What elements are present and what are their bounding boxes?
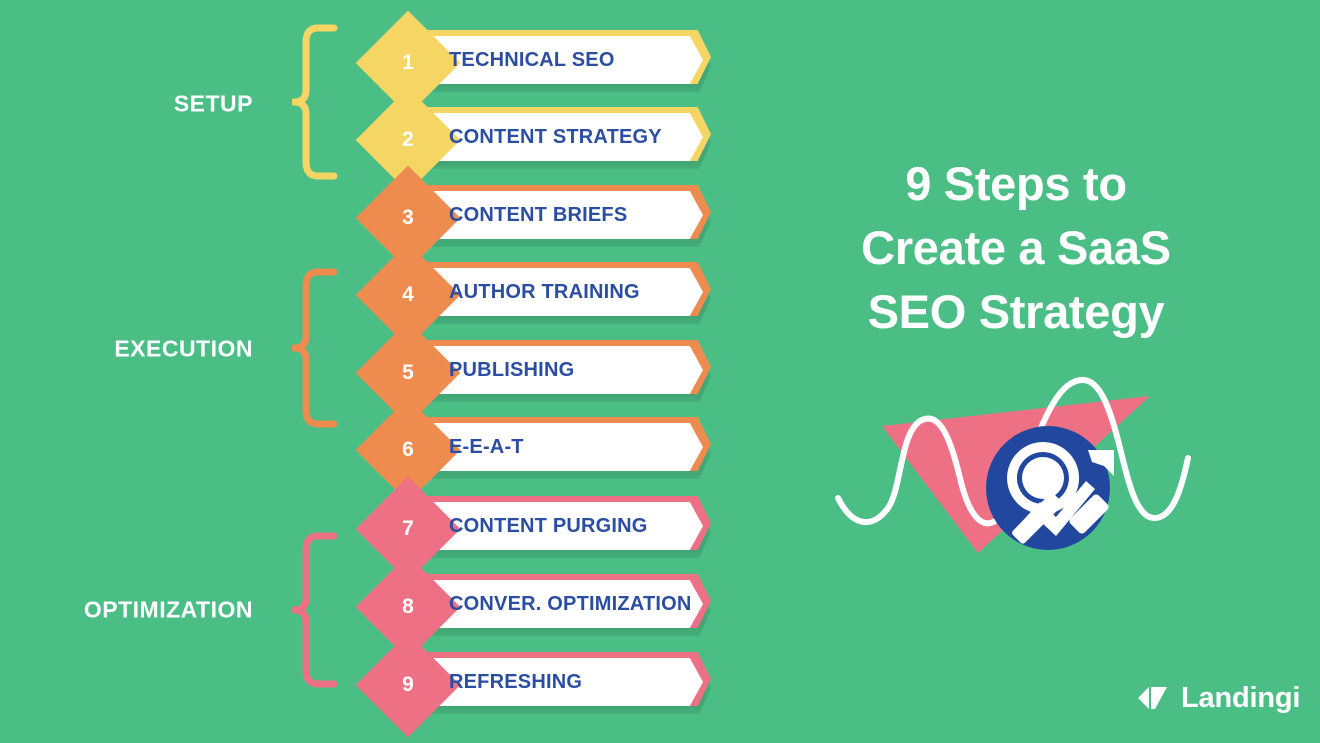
infographic-canvas: SETUP EXECUTION OPTIMIZATION 1 TECHNICAL… — [0, 0, 1320, 743]
step-row[interactable]: 3 CONTENT BRIEFS — [371, 181, 711, 255]
step-label: CONVER. OPTIMIZATION — [449, 580, 692, 628]
step-row[interactable]: 7 CONTENT PURGING — [371, 492, 711, 566]
step-label: E-E-A-T — [449, 423, 524, 471]
page-title: 9 Steps to Create a SaaS SEO Strategy — [806, 152, 1226, 344]
title-line-1: 9 Steps to — [806, 152, 1226, 216]
step-row[interactable]: 1 TECHNICAL SEO — [371, 26, 711, 100]
step-label: TECHNICAL SEO — [449, 36, 615, 84]
category-label-optimization: OPTIMIZATION — [84, 597, 253, 624]
logo-wordmark: Landingi — [1181, 682, 1300, 715]
diamond-mark-icon — [1136, 684, 1170, 712]
landingi-logo[interactable]: Landingi — [1136, 681, 1300, 715]
title-line-3: SEO Strategy — [806, 280, 1226, 344]
title-line-2: Create a SaaS — [806, 216, 1226, 280]
step-label: REFRESHING — [449, 658, 582, 706]
category-label-execution: EXECUTION — [114, 336, 253, 363]
step-number: 9 — [371, 648, 445, 722]
seo-illustration — [830, 358, 1230, 568]
step-row[interactable]: 2 CONTENT STRATEGY — [371, 103, 711, 177]
step-label: AUTHOR TRAINING — [449, 268, 640, 316]
step-label: CONTENT BRIEFS — [449, 191, 627, 239]
step-row[interactable]: 4 AUTHOR TRAINING — [371, 258, 711, 332]
brace-optimization — [292, 532, 338, 688]
step-row[interactable]: 9 REFRESHING — [371, 648, 711, 722]
brace-execution — [292, 268, 338, 428]
step-label: PUBLISHING — [449, 346, 574, 394]
step-row[interactable]: 6 E-E-A-T — [371, 413, 711, 487]
step-label: CONTENT PURGING — [449, 502, 648, 550]
step-row[interactable]: 5 PUBLISHING — [371, 336, 711, 410]
category-label-setup: SETUP — [174, 91, 253, 118]
brace-setup — [292, 24, 338, 180]
step-row[interactable]: 8 CONVER. OPTIMIZATION — [371, 570, 711, 644]
step-label: CONTENT STRATEGY — [449, 113, 662, 161]
